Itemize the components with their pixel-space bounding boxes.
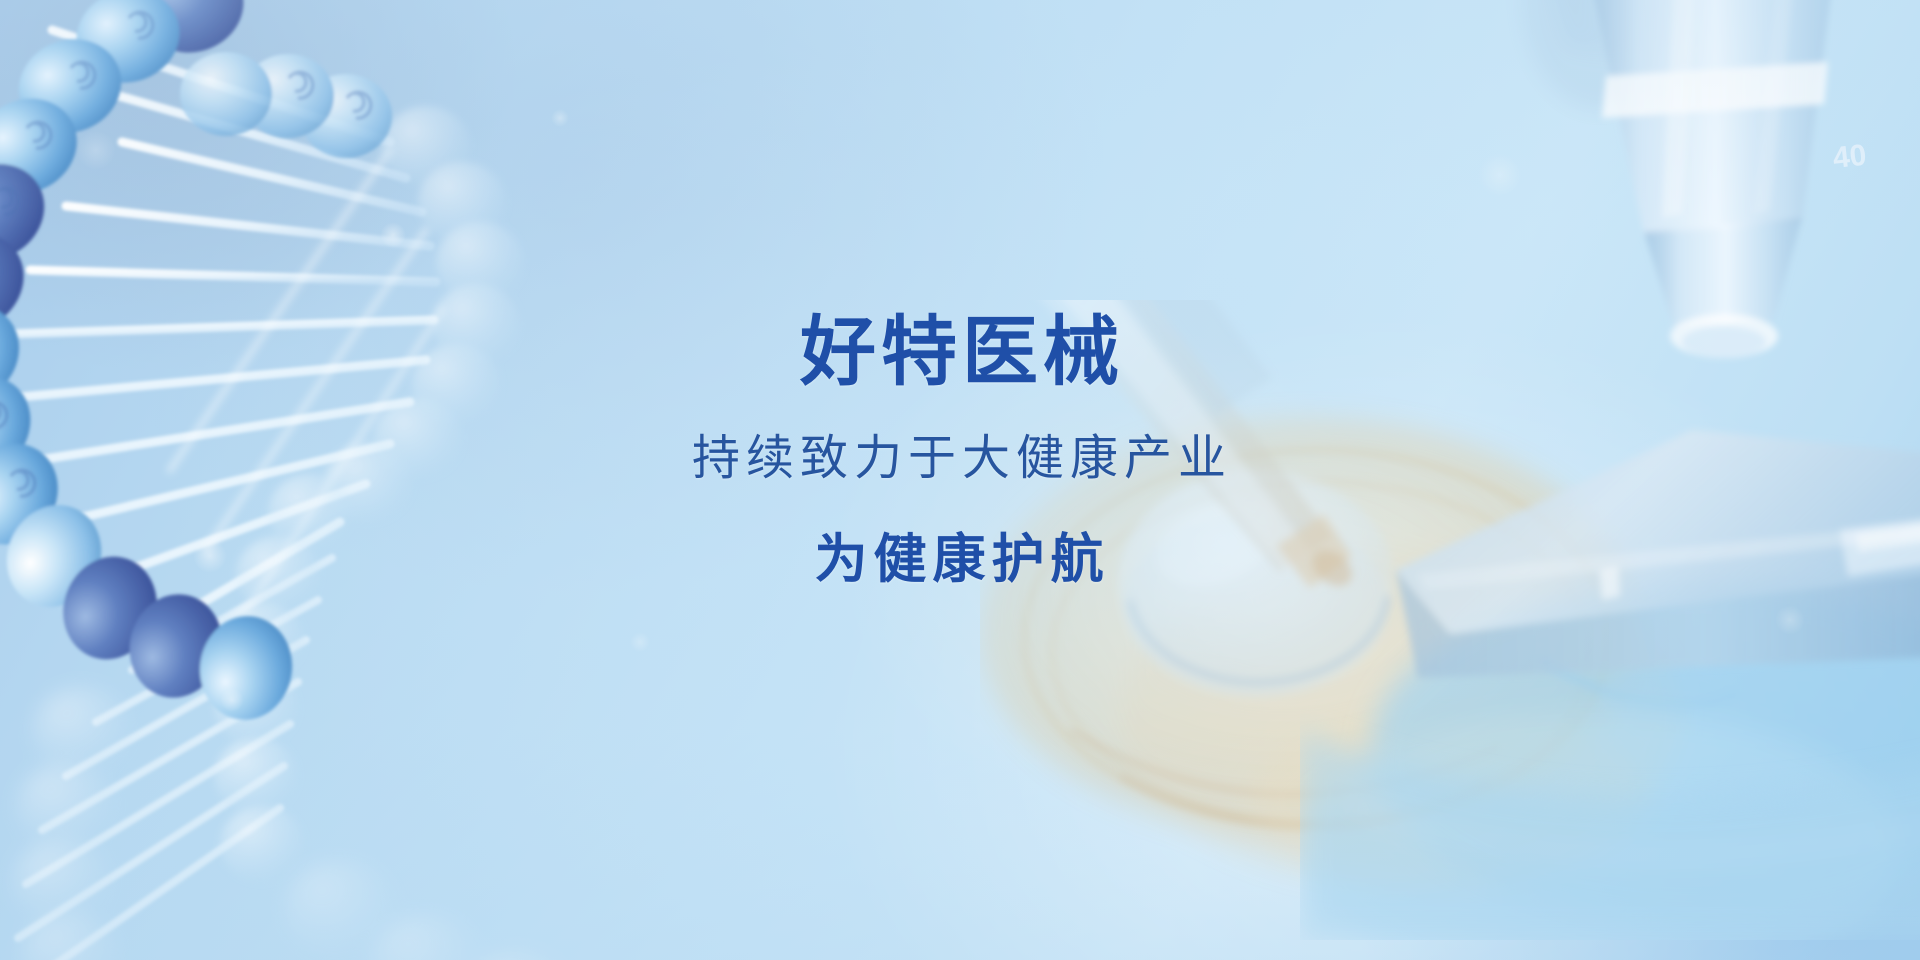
hero-subtitle: 持续致力于大健康产业 bbox=[692, 435, 1232, 483]
microscope-stage-icon bbox=[1300, 420, 1920, 940]
hero-banner: 40 bbox=[0, 0, 1920, 960]
dna-helix-icon bbox=[0, 0, 690, 960]
page-title: 好特医械 bbox=[800, 315, 1124, 391]
objective-magnification-label: 40 bbox=[1831, 139, 1868, 175]
hero-tagline: 为健康护航 bbox=[814, 533, 1109, 586]
